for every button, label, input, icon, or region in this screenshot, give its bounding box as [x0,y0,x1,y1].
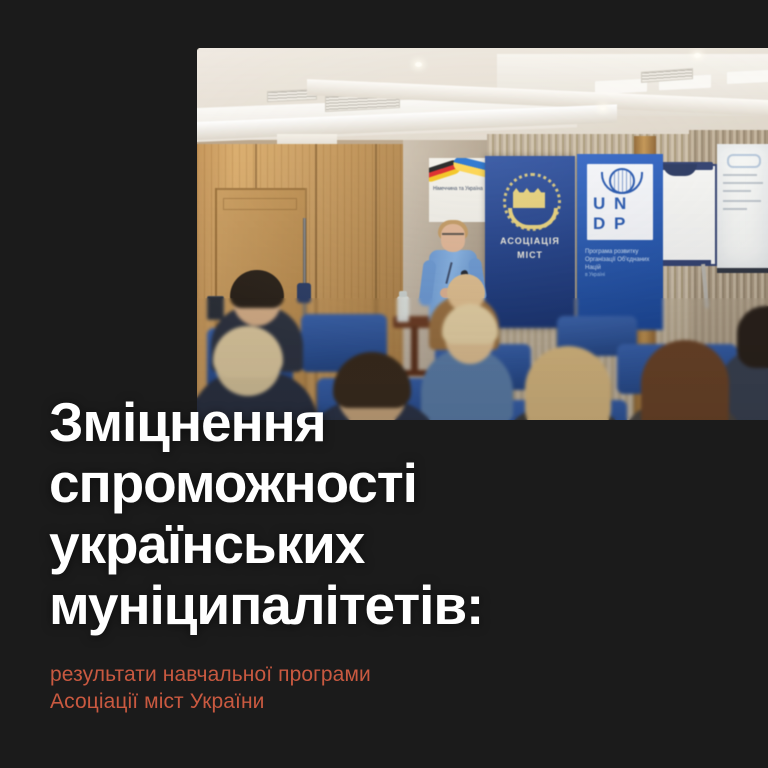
ukraine-flag-icon [452,158,485,179]
partnership-banner: Німеччина та Україна [429,158,485,222]
water-bottle-cap [399,291,407,297]
undp-logo-block: U N D P [587,164,653,240]
undp-banner-caption: Програма розвитку Організації Об'єднаних… [585,248,655,272]
page-title: Зміцнення спроможності українських муніц… [49,392,749,636]
amu-banner-line1: АСОЦІАЦІЯ [491,236,569,246]
slide-text-line [723,174,757,176]
conference-photo: Німеччина та Україна АСОЦІАЦІЯ МІСТ U N … [197,48,768,420]
partnership-banner-caption: Німеччина та Україна [433,186,483,193]
water-bottle [397,296,409,322]
glasses-icon [442,233,464,240]
slide-text-line [723,200,761,202]
side-table-leg [411,326,418,374]
slide-title-block [727,154,761,168]
wall-seam [315,144,317,420]
downlight-icon [694,53,701,58]
undp-banner-subcaption: в Україні [585,272,655,279]
un-wreath-icon [601,172,643,194]
ceiling-light-panel [727,70,768,84]
downlight-icon [415,62,422,67]
slide-text-line [723,190,751,192]
slide-text-line [723,208,747,210]
door-panel [223,198,297,210]
amu-banner-line2: МІСТ [491,250,569,260]
promo-card: Німеччина та Україна АСОЦІАЦІЯ МІСТ U N … [0,0,768,768]
downlight-icon [600,106,606,110]
card-reader [207,296,224,320]
amu-emblem-icon [500,172,558,226]
undp-logo-text: U N D P [593,194,647,234]
slide-text-line [723,182,763,184]
mic-receiver [297,283,311,303]
page-subtitle: результати навчальної програми Асоціації… [50,661,670,715]
projection-screen [717,144,768,273]
